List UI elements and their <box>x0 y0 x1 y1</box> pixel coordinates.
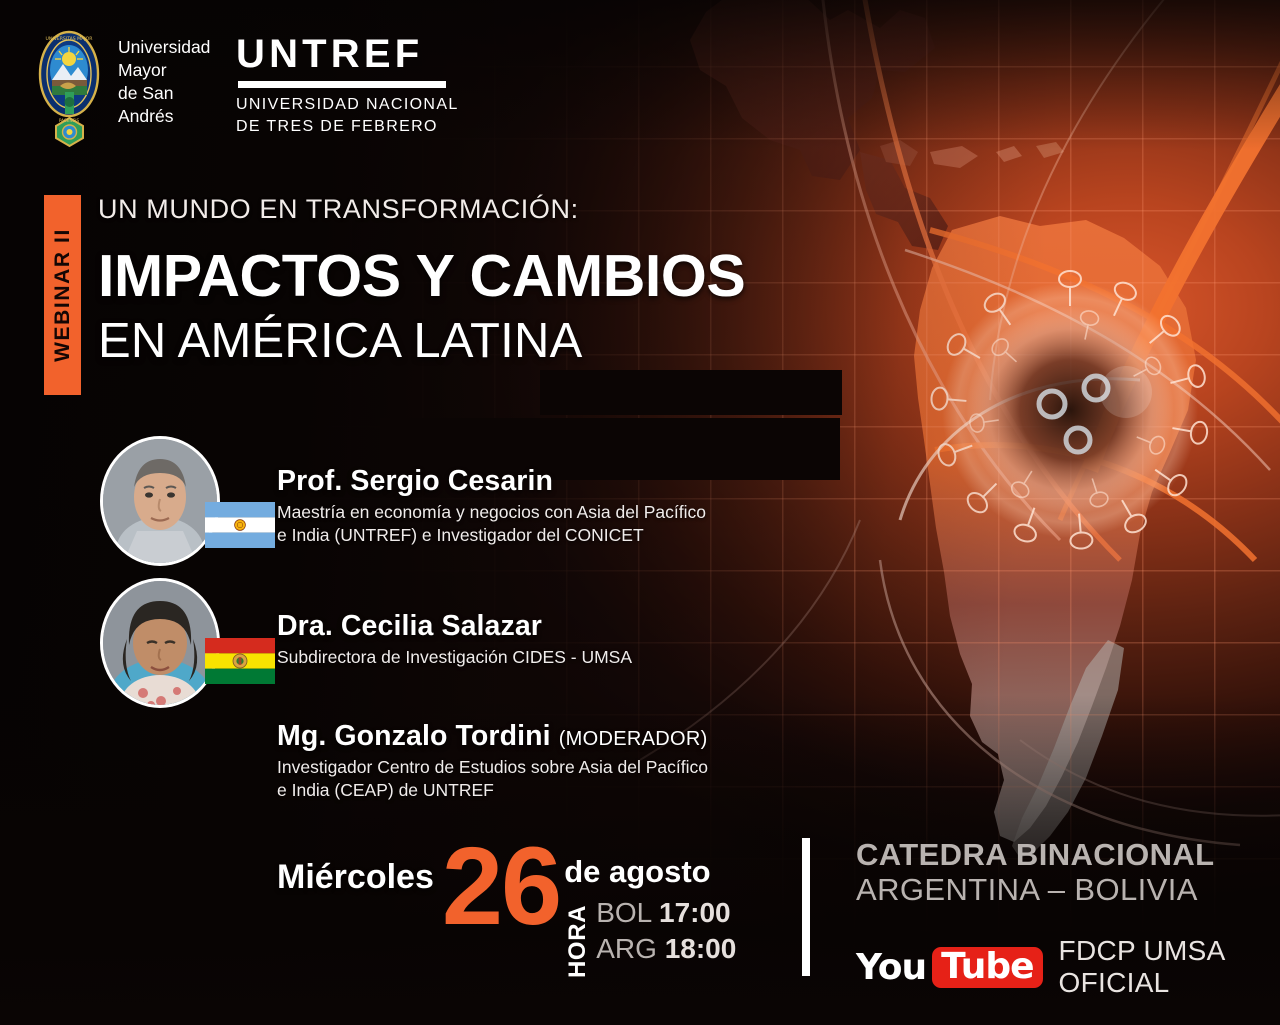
event-time-row-bol: BOL 17:00 <box>596 895 736 931</box>
untref-subtitle-line-2: DE TRES DE FEBRERO <box>236 116 459 138</box>
title-subtitle: EN AMÉRICA LATINA <box>98 316 898 368</box>
timezone-label-arg: ARG <box>596 933 657 964</box>
youtube-channel-row[interactable]: You Tube FDCP UMSA OFICIAL <box>856 935 1280 999</box>
footer-catedra-block: CATEDRA BINACIONAL ARGENTINA – BOLIVIA Y… <box>856 838 1280 999</box>
untref-subtitle-line-1: UNIVERSIDAD NACIONAL <box>236 94 459 116</box>
event-day-number: 26 <box>442 840 560 935</box>
event-time-row-arg: ARG 18:00 <box>596 931 736 967</box>
timezone-label-bol: BOL <box>596 897 651 928</box>
webinar-poster: UNIVERSITAS MAJOR PACENSIS Universidad M… <box>0 0 1280 1025</box>
speaker-photo-sergio-cesarin <box>100 436 220 566</box>
untref-divider-rule <box>238 81 446 88</box>
youtube-logo-tube-icon: Tube <box>932 947 1042 987</box>
umsa-line-2: Mayor <box>118 59 210 82</box>
poster-title: UN MUNDO EN TRANSFORMACIÓN: IMPACTOS Y C… <box>98 196 898 367</box>
catedra-line-2: ARGENTINA – BOLIVIA <box>856 873 1280 908</box>
catedra-line-1: CATEDRA BINACIONAL <box>856 838 1280 873</box>
logo-row: UNIVERSITAS MAJOR PACENSIS Universidad M… <box>36 26 210 154</box>
event-weekday: Miércoles <box>277 860 434 894</box>
hora-label: HORA <box>564 895 592 987</box>
speaker-name-3: Mg. Gonzalo Tordini (MODERADOR) <box>277 722 917 751</box>
umsa-line-4: Andrés <box>118 105 210 128</box>
untref-logo: UNTREF UNIVERSIDAD NACIONAL DE TRES DE F… <box>236 34 459 137</box>
speaker-role-3: (MODERADOR) <box>559 728 708 750</box>
webinar-badge: WEBINAR II <box>44 195 81 395</box>
speaker-name-2: Dra. Cecilia Salazar <box>277 612 857 641</box>
bolivia-flag-icon <box>205 638 275 684</box>
speaker-desc-3-line-2: e India (CEAP) de UNTREF <box>277 779 917 803</box>
umsa-line-1: Universidad <box>118 36 210 59</box>
umsa-seal-icon: UNIVERSITAS MAJOR PACENSIS <box>36 26 108 154</box>
title-backdrop-panel-upper <box>540 370 842 415</box>
speaker-desc-1-line-1: Maestría en economía y negocios con Asia… <box>277 501 857 525</box>
title-kicker: UN MUNDO EN TRANSFORMACIÓN: <box>98 196 898 223</box>
speaker-photo-cecilia-salazar <box>100 578 220 708</box>
youtube-channel-name: FDCP UMSA OFICIAL <box>1059 935 1280 999</box>
footer-vertical-divider <box>802 838 810 976</box>
event-time-group: HORA BOL 17:00 ARG 18:00 <box>564 895 736 987</box>
youtube-logo-you: You <box>856 947 926 988</box>
speaker-desc-3-line-1: Investigador Centro de Estudios sobre As… <box>277 756 917 780</box>
argentina-flag-icon <box>205 502 275 548</box>
svg-text:UNIVERSITAS MAJOR: UNIVERSITAS MAJOR <box>46 36 94 42</box>
svg-text:PACENSIS: PACENSIS <box>59 118 80 123</box>
webinar-badge-label: WEBINAR II <box>51 228 75 362</box>
event-date-block: Miércoles 26 de agosto HORA BOL 17:00 AR… <box>277 840 736 987</box>
umsa-wordmark: Universidad Mayor de San Andrés <box>118 36 210 128</box>
speaker-name-1: Prof. Sergio Cesarin <box>277 467 857 496</box>
time-value-arg: 18:00 <box>665 933 737 964</box>
untref-wordmark: UNTREF <box>236 34 459 74</box>
umsa-line-3: de San <box>118 82 210 105</box>
event-month: de agosto <box>564 856 736 887</box>
title-main: IMPACTOS Y CAMBIOS <box>98 245 898 308</box>
speaker-desc-2-line-1: Subdirectora de Investigación CIDES - UM… <box>277 646 857 670</box>
time-value-bol: 17:00 <box>659 897 731 928</box>
speaker-desc-1-line-2: e India (UNTREF) e Investigador del CONI… <box>277 524 857 548</box>
speaker-name-3-text: Mg. Gonzalo Tordini <box>277 720 551 752</box>
